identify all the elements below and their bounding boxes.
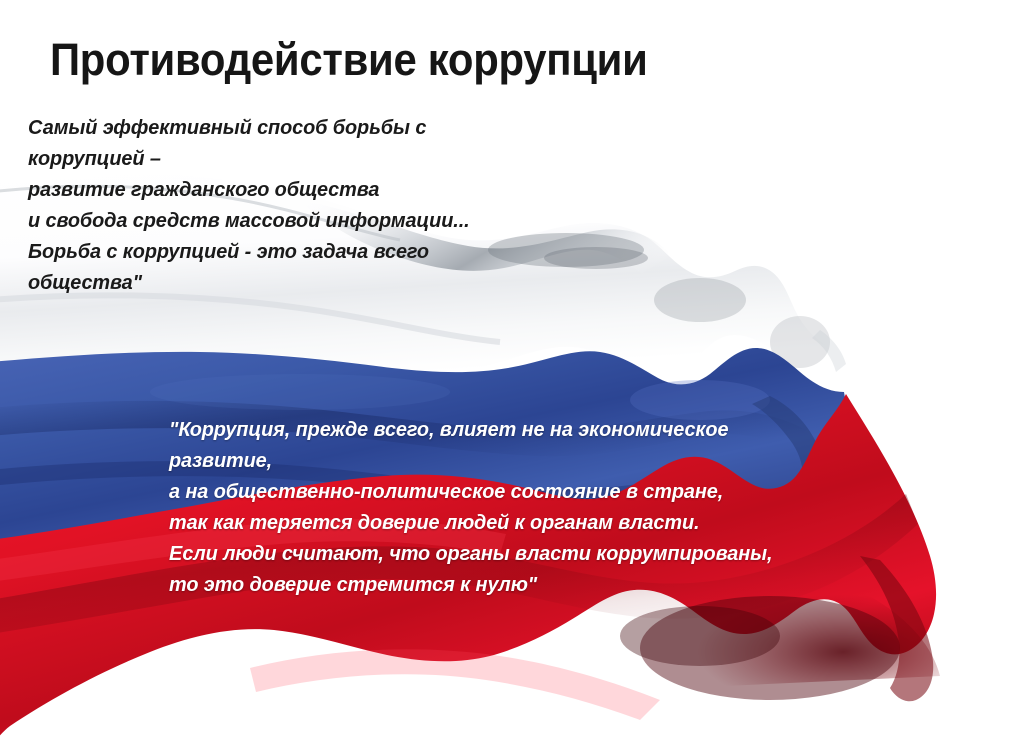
quote-bottom-line: "Коррупция, прежде всего, влияет не на э… bbox=[169, 414, 772, 445]
slide-title: Противодействие коррупции bbox=[50, 34, 648, 86]
quote-top-line: и свобода средств массовой информации... bbox=[28, 205, 470, 236]
quote-top-line: коррупцией – bbox=[28, 143, 470, 174]
quote-bottom-block: "Коррупция, прежде всего, влияет не на э… bbox=[169, 414, 791, 600]
quote-bottom-line: Если люди считают, что органы власти кор… bbox=[169, 538, 772, 569]
quote-top-line: Самый эффективный способ борьбы с bbox=[28, 112, 470, 143]
quote-bottom-line: то это доверие стремится к нулю" bbox=[169, 569, 772, 600]
quote-top-line: общества" bbox=[28, 267, 470, 298]
quote-bottom-line: развитие, bbox=[169, 445, 772, 476]
quote-bottom-line: а на общественно-политическое состояние … bbox=[169, 476, 772, 507]
quote-top-line: развитие гражданского общества bbox=[28, 174, 470, 205]
slide-canvas: Противодействие коррупции Самый эффектив… bbox=[0, 0, 1021, 756]
quote-top-line: Борьба с коррупцией - это задача всего bbox=[28, 236, 470, 267]
quote-bottom-line: так как теряется доверие людей к органам… bbox=[169, 507, 772, 538]
quote-top-block: Самый эффективный способ борьбы с корруп… bbox=[28, 112, 483, 298]
